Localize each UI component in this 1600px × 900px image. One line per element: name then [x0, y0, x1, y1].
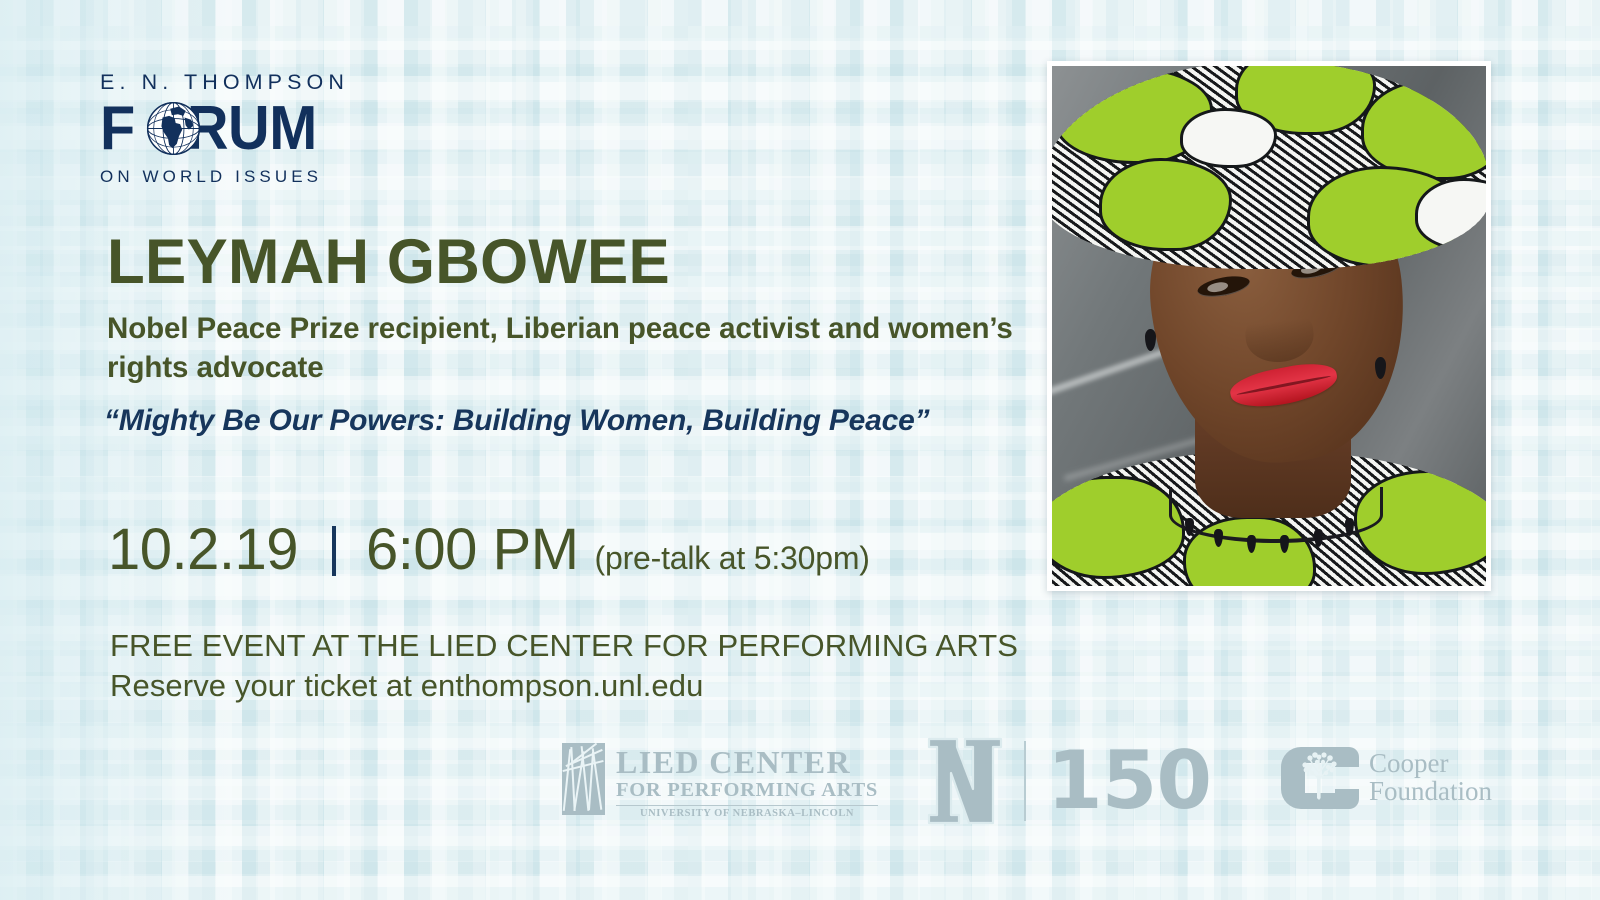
speaker-description: Nobel Peace Prize recipient, Liberian pe… — [107, 309, 1037, 387]
lied-center-line2: FOR PERFORMING ARTS — [616, 779, 878, 802]
speaker-portrait-frame — [1047, 61, 1491, 591]
forum-logo-wordmark-text: FRUM — [100, 98, 317, 160]
portrait-lips — [1228, 357, 1341, 413]
forum-logo-bottom-line: ON WORLD ISSUES — [100, 168, 350, 185]
event-datetime: 10.2.19 6:00 PM (pre-talk at 5:30pm) — [108, 519, 870, 579]
nebraska-150-logo[interactable]: 150 — [927, 737, 1211, 825]
talk-title: “Mighty Be Our Powers: Building Women, B… — [104, 400, 934, 443]
speaker-name: LEYMAH GBOWEE — [107, 231, 670, 294]
event-pretalk-note: (pre-talk at 5:30pm) — [595, 540, 870, 577]
nebraska-logo-divider — [1024, 741, 1026, 821]
event-poster: E. N. THOMPSON FRUM ON WORLD ISSUES LEYM… — [0, 0, 1600, 900]
lied-center-rule — [616, 805, 878, 807]
portrait-necklace — [1169, 487, 1383, 543]
cooper-foundation-wordmark: Cooper Foundation — [1369, 750, 1492, 806]
forum-logo[interactable]: E. N. THOMPSON FRUM ON WORLD ISSUES — [100, 72, 350, 185]
lied-center-logo[interactable]: LIED CENTER FOR PERFORMING ARTS UNIVERSI… — [562, 743, 878, 819]
nebraska-anniversary-number: 150 — [1047, 741, 1211, 821]
lied-center-mark-icon — [562, 743, 605, 815]
sponsor-logos: LIED CENTER FOR PERFORMING ARTS UNIVERSI… — [0, 735, 1600, 845]
cooper-foundation-line1: Cooper — [1369, 750, 1492, 778]
event-reserve-line[interactable]: Reserve your ticket at enthompson.unl.ed… — [110, 668, 703, 704]
lied-center-wordmark: LIED CENTER FOR PERFORMING ARTS UNIVERSI… — [616, 743, 878, 819]
lied-center-line1: LIED CENTER — [616, 747, 878, 777]
portrait-headwrap — [1052, 66, 1486, 269]
globe-icon — [146, 101, 201, 156]
event-date: 10.2.19 — [108, 521, 298, 579]
lied-center-line3: UNIVERSITY OF NEBRASKA–LINCOLN — [616, 808, 878, 819]
forum-logo-top-line: E. N. THOMPSON — [100, 72, 350, 94]
nebraska-n-icon — [927, 737, 1003, 825]
cooper-c-tree-icon — [1281, 747, 1359, 809]
cooper-foundation-line2: Foundation — [1369, 778, 1492, 806]
event-venue-line: FREE EVENT AT THE LIED CENTER FOR PERFOR… — [110, 628, 1018, 664]
speaker-portrait — [1052, 66, 1486, 586]
cooper-foundation-logo[interactable]: Cooper Foundation — [1281, 747, 1492, 809]
event-time: 6:00 PM — [366, 521, 579, 579]
datetime-divider — [332, 526, 336, 576]
forum-logo-wordmark: FRUM — [100, 98, 350, 160]
